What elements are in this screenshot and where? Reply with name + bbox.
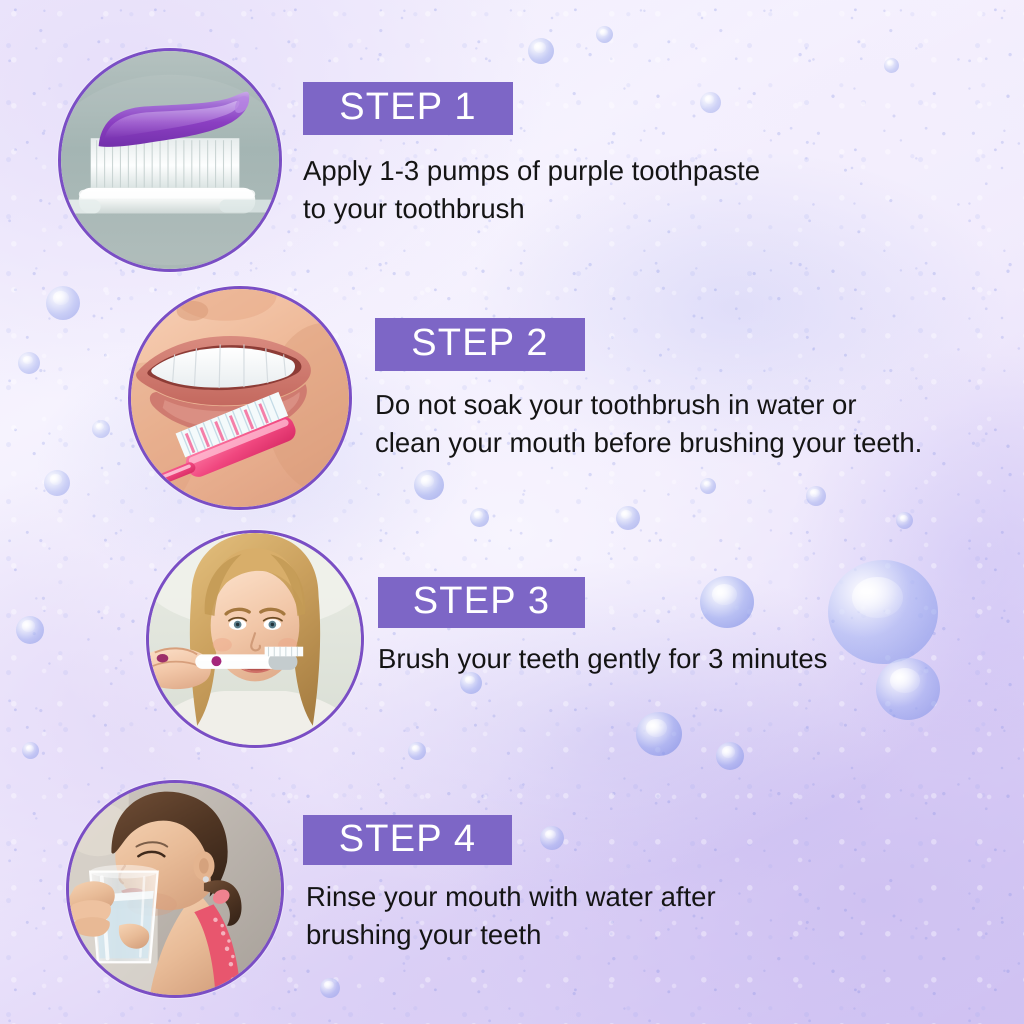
bubble [414,470,444,500]
step-2-badge: STEP 2 [375,318,585,371]
bubble [22,742,39,759]
bubble [18,352,40,374]
step-2-description: Do not soak your toothbrush in water or … [375,386,1015,462]
bubble [92,420,110,438]
drinking-water-illustration [69,783,281,995]
bubble [540,826,564,850]
step-3-description: Brush your teeth gently for 3 minutes [378,640,988,678]
smile-with-pink-toothbrush-photo [128,286,352,510]
bubble [616,506,640,530]
bubble [636,712,682,756]
bubble [470,508,489,527]
step-4-description: Rinse your mouth with water after brushi… [306,878,866,954]
step-1-badge: STEP 1 [303,82,513,135]
bubble [320,978,340,998]
photo-image [131,289,349,507]
bubble [716,742,744,770]
bubble [46,286,80,320]
toothbrush-illustration [61,51,279,269]
step-1-description: Apply 1-3 pumps of purple toothpaste to … [303,152,863,228]
toothbrush-with-purple-toothpaste-photo [58,48,282,272]
woman-brushing-teeth-photo [146,530,364,748]
bubble [896,512,913,529]
instruction-poster: STEP 1 Apply 1-3 pumps of purple toothpa… [0,0,1024,1024]
bubble [408,742,426,760]
bubble [806,486,826,506]
bubble [596,26,613,43]
step-4-badge: STEP 4 [303,815,512,865]
bubble [16,616,44,644]
bubble [700,478,716,494]
photo-image [61,51,279,269]
woman-drinking-water-photo [66,780,284,998]
photo-image [69,783,281,995]
bubble [44,470,70,496]
brushing-illustration [149,533,361,745]
step-3-badge: STEP 3 [378,577,585,628]
bubble [884,58,899,73]
bubble [700,92,721,113]
photo-image [149,533,361,745]
smile-illustration [131,289,349,507]
bubble [700,576,754,628]
bubble [528,38,554,64]
